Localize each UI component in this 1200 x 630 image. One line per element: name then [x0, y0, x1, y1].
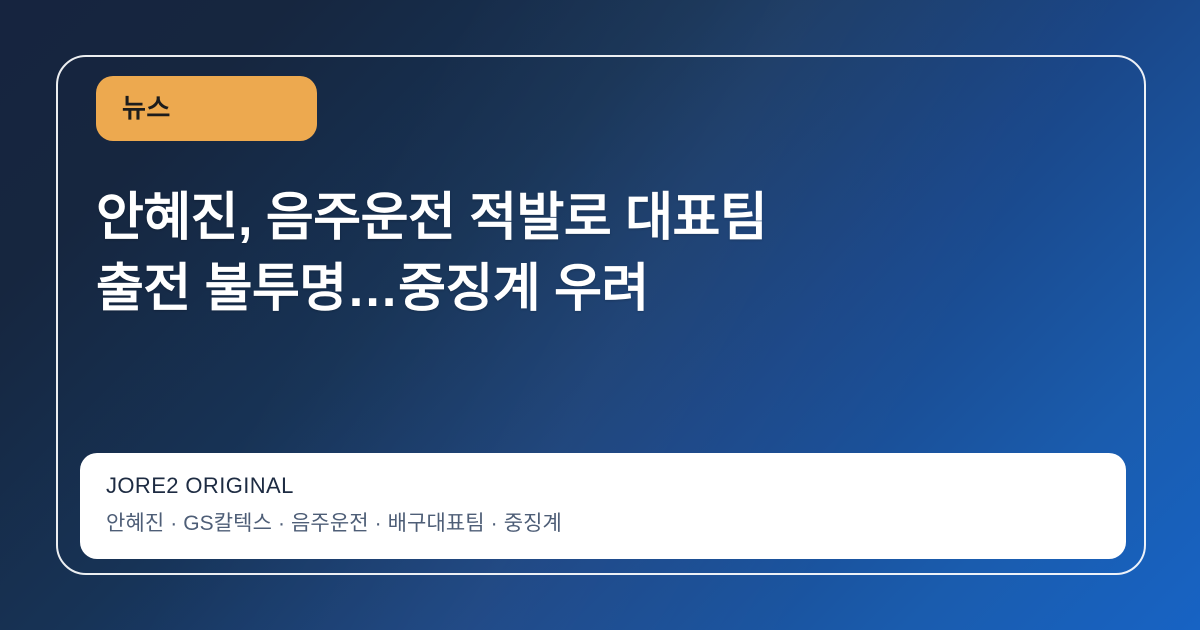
headline-line-2: 출전 불투명…중징계 우려	[96, 254, 996, 325]
footer-card: JORE2 ORIGINAL 안혜진 · GS칼텍스 · 음주운전 · 배구대표…	[80, 453, 1126, 559]
headline: 안혜진, 음주운전 적발로 대표팀 출전 불투명…중징계 우려	[96, 183, 996, 324]
tag-list: 안혜진 · GS칼텍스 · 음주운전 · 배구대표팀 · 중징계	[106, 511, 1100, 537]
content-spacer	[96, 324, 1124, 453]
headline-line-1: 안혜진, 음주운전 적발로 대표팀	[96, 183, 996, 254]
category-badge: 뉴스	[96, 76, 317, 141]
news-share-card: 뉴스 안혜진, 음주운전 적발로 대표팀 출전 불투명…중징계 우려 JORE2…	[0, 0, 1200, 630]
brand-label: JORE2 ORIGINAL	[106, 473, 1100, 499]
card-content: 뉴스 안혜진, 음주운전 적발로 대표팀 출전 불투명…중징계 우려 JORE2…	[56, 55, 1146, 575]
